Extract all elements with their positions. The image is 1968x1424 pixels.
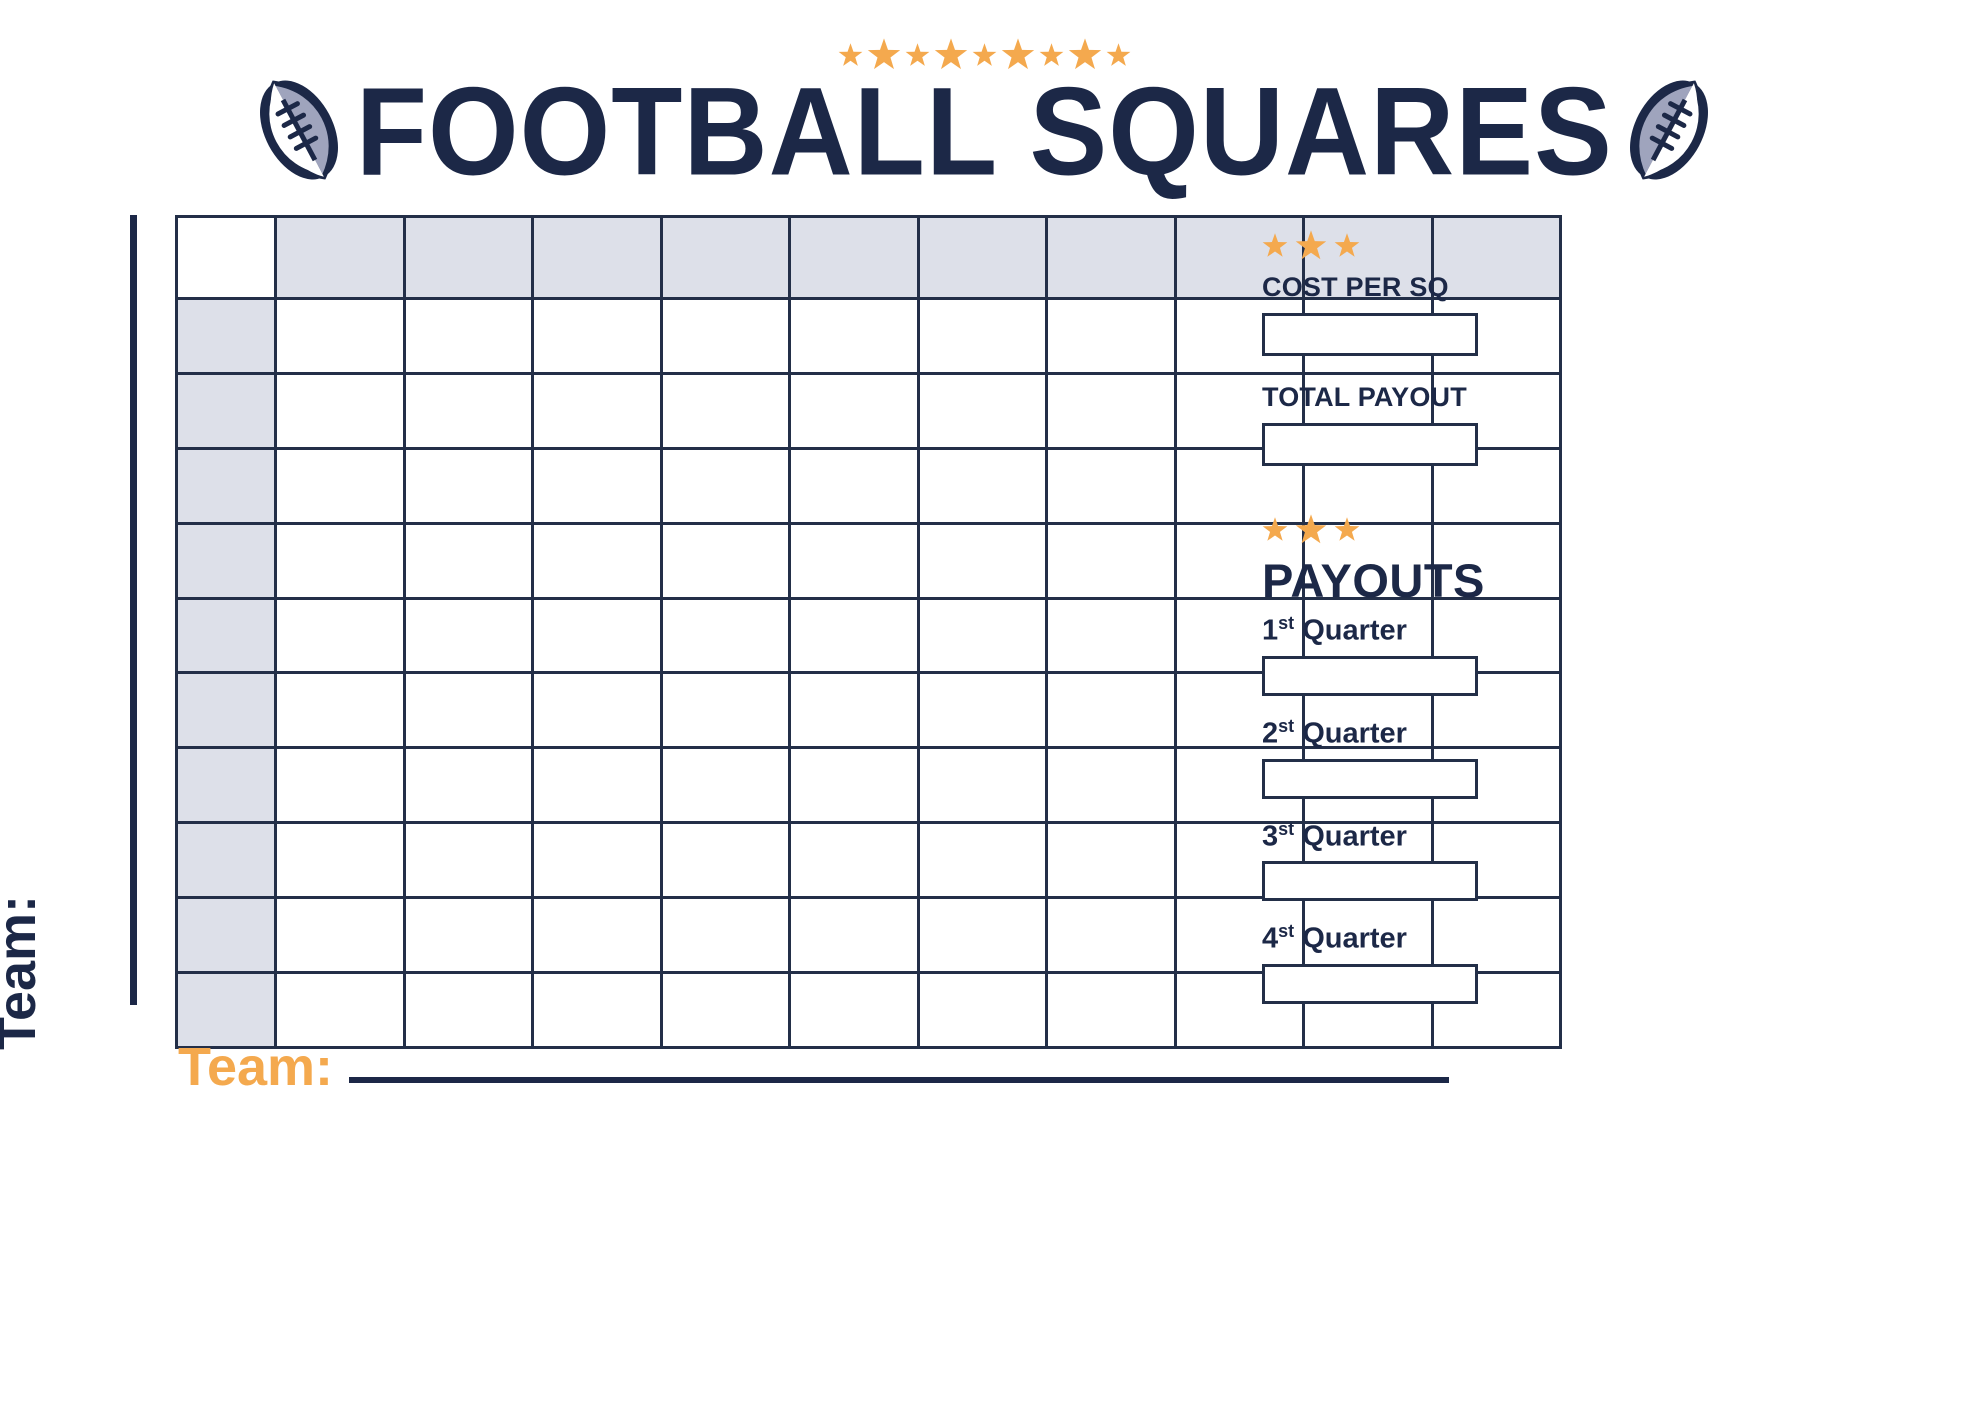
grid-col-header-cell[interactable] — [661, 217, 790, 299]
grid-row-header-cell[interactable] — [177, 748, 276, 823]
grid-square-cell[interactable] — [918, 373, 1047, 448]
side-panel: COST PER SQ TOTAL PAYOUT PAYOUTS 1st Qua… — [1262, 230, 1487, 1024]
grid-square-cell[interactable] — [533, 373, 662, 448]
grid-square-cell[interactable] — [404, 748, 533, 823]
grid-row-header-cell[interactable] — [177, 373, 276, 448]
grid-square-cell[interactable] — [533, 748, 662, 823]
cost-per-sq-input[interactable] — [1262, 313, 1478, 356]
grid-square-cell[interactable] — [276, 673, 405, 748]
team-bottom-writeline[interactable] — [349, 1077, 1449, 1083]
grid-square-cell[interactable] — [533, 448, 662, 523]
grid-square-cell[interactable] — [1047, 373, 1176, 448]
grid-col-header-cell[interactable] — [790, 217, 919, 299]
left-axis-bar — [130, 215, 144, 1005]
grid-square-cell[interactable] — [276, 898, 405, 973]
grid-square-cell[interactable] — [661, 973, 790, 1048]
payouts-title: PAYOUTS — [1262, 556, 1487, 605]
grid-square-cell[interactable] — [1047, 748, 1176, 823]
grid-square-cell[interactable] — [404, 299, 533, 374]
grid-square-cell[interactable] — [918, 898, 1047, 973]
quarters-list: 1st Quarter2st Quarter3st Quarter4st Qua… — [1262, 613, 1487, 1004]
grid-row-header-cell[interactable] — [177, 299, 276, 374]
grid-square-cell[interactable] — [1047, 299, 1176, 374]
grid-square-cell[interactable] — [276, 748, 405, 823]
grid-col-header-cell[interactable] — [404, 217, 533, 299]
grid-square-cell[interactable] — [661, 448, 790, 523]
grid-square-cell[interactable] — [661, 748, 790, 823]
total-payout-input[interactable] — [1262, 423, 1478, 466]
grid-square-cell[interactable] — [1047, 673, 1176, 748]
grid-square-cell[interactable] — [661, 598, 790, 673]
grid-col-header-cell[interactable] — [533, 217, 662, 299]
grid-square-cell[interactable] — [790, 448, 919, 523]
grid-square-cell[interactable] — [276, 523, 405, 598]
grid-square-cell[interactable] — [918, 299, 1047, 374]
star-icon — [1334, 517, 1360, 543]
panel-star-row-top — [1262, 230, 1487, 262]
grid-square-cell[interactable] — [1047, 823, 1176, 898]
quarter-payout-input-3[interactable] — [1262, 861, 1478, 901]
grid-square-cell[interactable] — [533, 523, 662, 598]
grid-square-cell[interactable] — [404, 823, 533, 898]
page-header: FOOTBALL SQUARES — [0, 62, 1968, 202]
grid-row-header-cell[interactable] — [177, 673, 276, 748]
grid-square-cell[interactable] — [661, 823, 790, 898]
grid-square-cell[interactable] — [276, 373, 405, 448]
grid-square-cell[interactable] — [404, 973, 533, 1048]
grid-square-cell[interactable] — [533, 598, 662, 673]
quarter-label-3: 3st Quarter — [1262, 819, 1487, 854]
grid-square-cell[interactable] — [533, 823, 662, 898]
quarter-label-4: 4st Quarter — [1262, 921, 1487, 956]
grid-square-cell[interactable] — [790, 673, 919, 748]
grid-row-header-cell[interactable] — [177, 898, 276, 973]
grid-square-cell[interactable] — [533, 299, 662, 374]
grid-square-cell[interactable] — [1047, 523, 1176, 598]
grid-square-cell[interactable] — [276, 598, 405, 673]
grid-square-cell[interactable] — [790, 898, 919, 973]
quarter-label-1: 1st Quarter — [1262, 613, 1487, 648]
grid-row-header-cell[interactable] — [177, 598, 276, 673]
quarter-payout-input-2[interactable] — [1262, 759, 1478, 799]
grid-square-cell[interactable] — [918, 448, 1047, 523]
grid-square-cell[interactable] — [404, 523, 533, 598]
grid-square-cell[interactable] — [918, 523, 1047, 598]
grid-row-header-cell[interactable] — [177, 448, 276, 523]
grid-col-header-cell[interactable] — [918, 217, 1047, 299]
grid-square-cell[interactable] — [404, 598, 533, 673]
grid-square-cell[interactable] — [533, 973, 662, 1048]
grid-square-cell[interactable] — [276, 823, 405, 898]
total-payout-label: TOTAL PAYOUT — [1262, 382, 1487, 413]
team-label-bottom: Team: — [178, 1040, 333, 1094]
grid-square-cell[interactable] — [918, 598, 1047, 673]
quarter-payout-input-1[interactable] — [1262, 656, 1478, 696]
grid-square-cell[interactable] — [1047, 898, 1176, 973]
cost-per-sq-label: COST PER SQ — [1262, 272, 1487, 303]
star-icon — [1295, 230, 1327, 262]
football-squares-page: FOOTBALL SQUARES — [0, 0, 1968, 1424]
grid-square-cell[interactable] — [404, 373, 533, 448]
quarter-payout-input-4[interactable] — [1262, 964, 1478, 1004]
grid-corner-cell — [177, 217, 276, 299]
grid-square-cell[interactable] — [918, 973, 1047, 1048]
grid-square-cell[interactable] — [276, 299, 405, 374]
star-icon — [1262, 233, 1288, 259]
panel-spacer — [1262, 492, 1487, 514]
grid-square-cell[interactable] — [790, 748, 919, 823]
football-icon-right — [1610, 74, 1728, 191]
grid-square-cell[interactable] — [404, 673, 533, 748]
team-label-bottom-group: Team: — [178, 1040, 1449, 1094]
panel-star-row-payouts — [1262, 514, 1487, 546]
grid-square-cell[interactable] — [661, 523, 790, 598]
grid-square-cell[interactable] — [661, 898, 790, 973]
axis-line-vertical — [130, 215, 137, 1005]
grid-square-cell[interactable] — [790, 523, 919, 598]
grid-square-cell[interactable] — [790, 373, 919, 448]
grid-square-cell[interactable] — [1047, 973, 1176, 1048]
grid-square-cell[interactable] — [918, 823, 1047, 898]
star-icon — [1262, 517, 1288, 543]
grid-square-cell[interactable] — [404, 898, 533, 973]
grid-square-cell[interactable] — [918, 673, 1047, 748]
grid-square-cell[interactable] — [790, 598, 919, 673]
star-icon — [1295, 514, 1327, 546]
grid-square-cell[interactable] — [918, 748, 1047, 823]
grid-square-cell[interactable] — [1047, 598, 1176, 673]
star-icon — [1334, 233, 1360, 259]
grid-square-cell[interactable] — [533, 898, 662, 973]
grid-square-cell[interactable] — [1047, 448, 1176, 523]
grid-col-header-cell[interactable] — [276, 217, 405, 299]
grid-square-cell[interactable] — [790, 823, 919, 898]
page-title: FOOTBALL SQUARES — [356, 69, 1613, 194]
grid-square-cell[interactable] — [790, 973, 919, 1048]
grid-square-cell[interactable] — [661, 673, 790, 748]
grid-square-cell[interactable] — [404, 448, 533, 523]
grid-square-cell[interactable] — [276, 448, 405, 523]
quarter-label-2: 2st Quarter — [1262, 716, 1487, 751]
grid-square-cell[interactable] — [790, 299, 919, 374]
grid-row-header-cell[interactable] — [177, 523, 276, 598]
football-icon-left — [240, 74, 358, 191]
grid-square-cell[interactable] — [661, 373, 790, 448]
team-label-left: Team: — [0, 895, 48, 1050]
grid-square-cell[interactable] — [661, 299, 790, 374]
grid-col-header-cell[interactable] — [1047, 217, 1176, 299]
grid-square-cell[interactable] — [533, 673, 662, 748]
grid-row-header-cell[interactable] — [177, 823, 276, 898]
